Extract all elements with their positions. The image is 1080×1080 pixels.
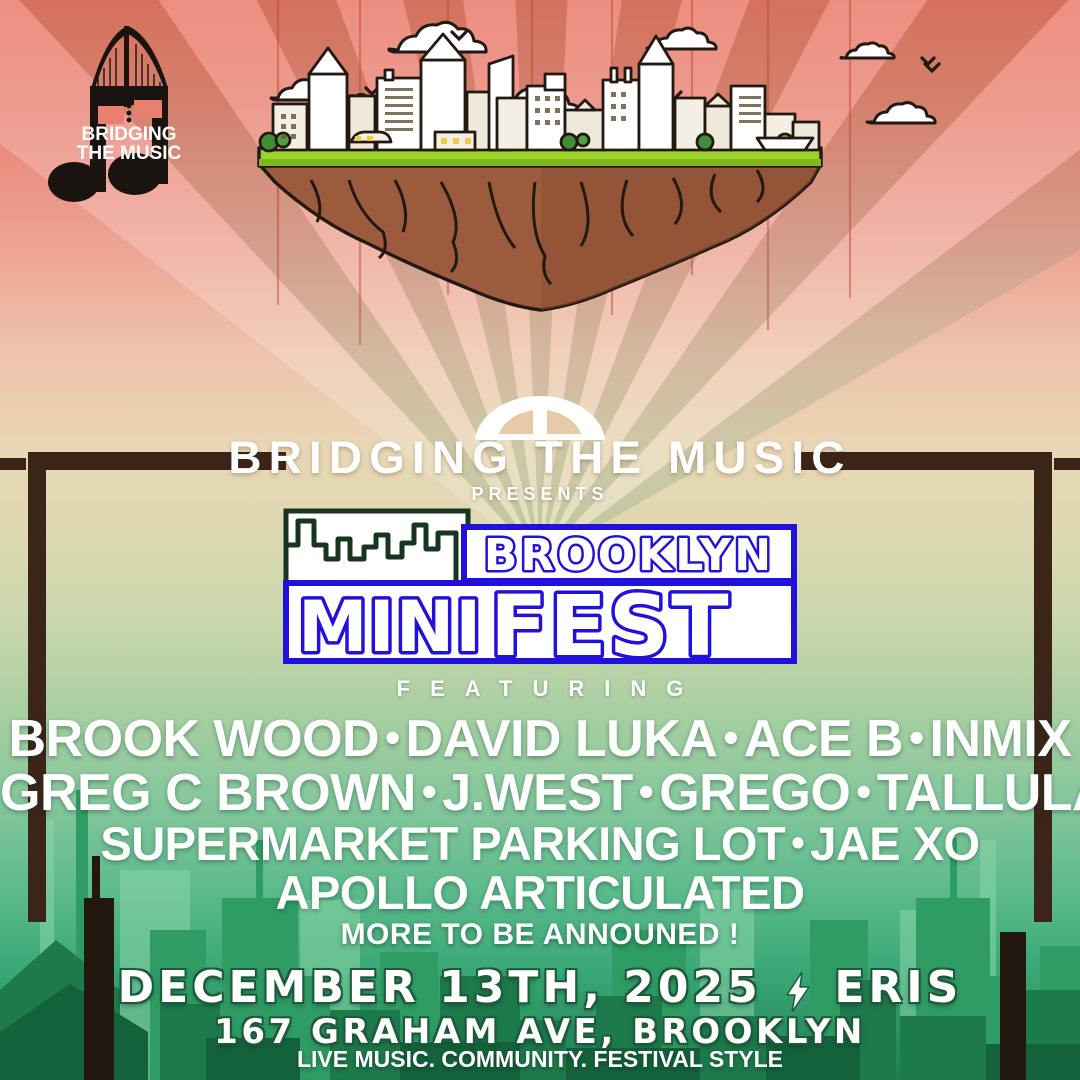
event-date: DECEMBER 13TH, 2025 [118,962,762,1013]
brooklyn-mini-fest-wordmark: BROOKLYN MINI FEST [280,505,800,670]
lineup-separator: • [416,768,442,816]
artist-name: SUPERMARKET PARKING LOT [100,817,785,870]
artist-name: BROOK WOOD [9,710,380,768]
lineup-separator: • [717,714,743,762]
lineup-separator: • [903,714,929,762]
featuring-label: FEATURING [0,676,1080,702]
lineup-separator: • [785,822,810,865]
lineup-separator: • [379,714,405,762]
event-venue: ERIS [834,962,962,1013]
title-mini: MINI [298,586,482,668]
poster-content: BRIDGING THE MUSIC PRESENTS [0,0,1080,1080]
lineup-separator: • [850,768,876,816]
lineup-row-2: GREG C BROWN•J.WEST•GREGO•TALLULAH [0,766,1080,820]
artist-name: DAVID LUKA [406,710,718,768]
artist-name: ACE B [744,710,903,768]
festival-poster: BRIDGING THE MUSIC [0,0,1080,1080]
artist-name: INMIX [930,710,1072,768]
artist-lineup: BROOK WOOD•DAVID LUKA•ACE B•INMIX GREG C… [0,712,1080,918]
artist-name: GREGO [659,764,850,822]
event-date-venue: DECEMBER 13TH, 2025 ERIS [0,962,1080,1013]
presents-label: PRESENTS [0,484,1080,505]
artist-name: GREG C BROWN [0,764,416,822]
lineup-row-4: APOLLO ARTICULATED [0,869,1080,918]
presenter-name: BRIDGING THE MUSIC [0,432,1080,484]
more-to-be-announced: MORE TO BE ANNOUNED ! [0,918,1080,952]
title-brooklyn: BROOKLYN [484,530,774,581]
lightning-bolt-icon [781,964,815,1015]
artist-name: APOLLO ARTICULATED [276,866,805,919]
lineup-row-1: BROOK WOOD•DAVID LUKA•ACE B•INMIX [0,712,1080,766]
event-tagline: LIVE MUSIC. COMMUNITY. FESTIVAL STYLE [0,1046,1080,1073]
lineup-row-3: SUPERMARKET PARKING LOT•JAE XO [0,820,1080,869]
artist-name: JAE XO [810,817,979,870]
artist-name: TALLULAH [877,764,1080,822]
title-fest: FEST [490,577,731,670]
artist-name: J.WEST [442,764,633,822]
lineup-separator: • [633,768,659,816]
